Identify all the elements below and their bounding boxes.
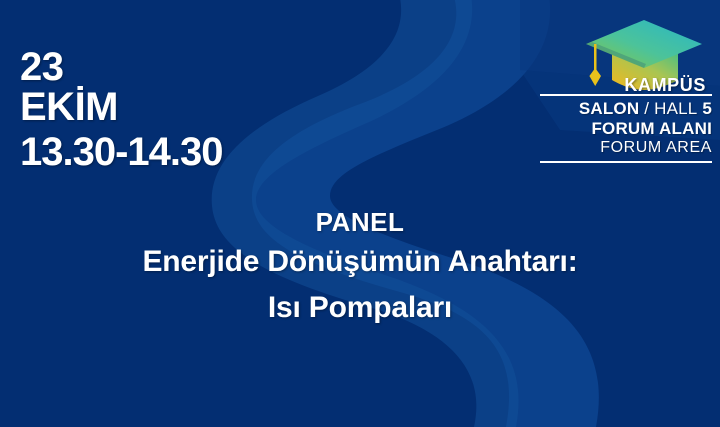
hall-separator: /: [639, 99, 654, 118]
event-month: EKİM: [20, 86, 223, 129]
session-type-label: PANEL: [60, 206, 660, 239]
brand-name: KAMPÜS: [624, 76, 706, 94]
hall-line: SALON / HALL 5: [540, 99, 712, 119]
event-banner: 23 EKİM 13.30-14.30 PANEL Enerjide Dönüş…: [0, 0, 720, 427]
event-date-block: 23 EKİM 13.30-14.30: [20, 48, 223, 175]
event-time: 13.30-14.30: [20, 129, 223, 175]
hall-number: 5: [697, 99, 712, 118]
event-headline-block: PANEL Enerjide Dönüşümün Anahtarı: Isı P…: [60, 206, 660, 332]
hall-label-tr: SALON: [579, 99, 640, 118]
session-title-line-1: Enerjide Dönüşümün Anahtarı:: [60, 239, 660, 286]
graduation-cap-wrap: KAMPÜS: [540, 18, 710, 90]
event-day: 23: [20, 48, 223, 86]
kampus-logo-lockup: KAMPÜS SALON / HALL 5 FORUM ALANI FORUM …: [540, 18, 712, 163]
lockup-divider-bottom: [540, 161, 712, 163]
session-title-line-2: Isı Pompaları: [60, 285, 660, 332]
forum-area-en: FORUM AREA: [540, 139, 712, 158]
forum-area-tr: FORUM ALANI: [540, 119, 712, 139]
hall-label-en: HALL: [654, 99, 697, 118]
